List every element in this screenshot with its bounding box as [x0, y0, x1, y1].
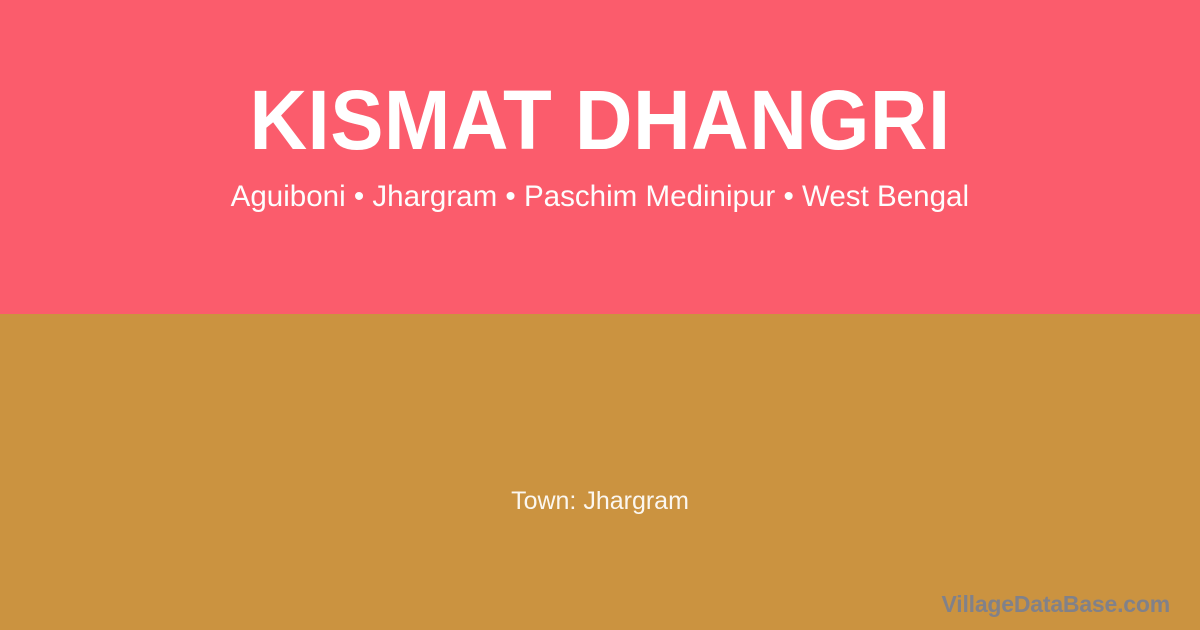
- location-breadcrumb: Aguiboni • Jhargram • Paschim Medinipur …: [231, 180, 969, 213]
- header-band: KISMAT DHANGRI Aguiboni • Jhargram • Pas…: [0, 0, 1200, 314]
- town-detail: Town: Jhargram: [0, 486, 1200, 516]
- village-info-card: KISMAT DHANGRI Aguiboni • Jhargram • Pas…: [0, 0, 1200, 630]
- page-title: KISMAT DHANGRI: [249, 78, 950, 162]
- body-area: Town: Jhargram: [0, 314, 1200, 630]
- site-watermark: VillageDataBase.com: [942, 591, 1170, 618]
